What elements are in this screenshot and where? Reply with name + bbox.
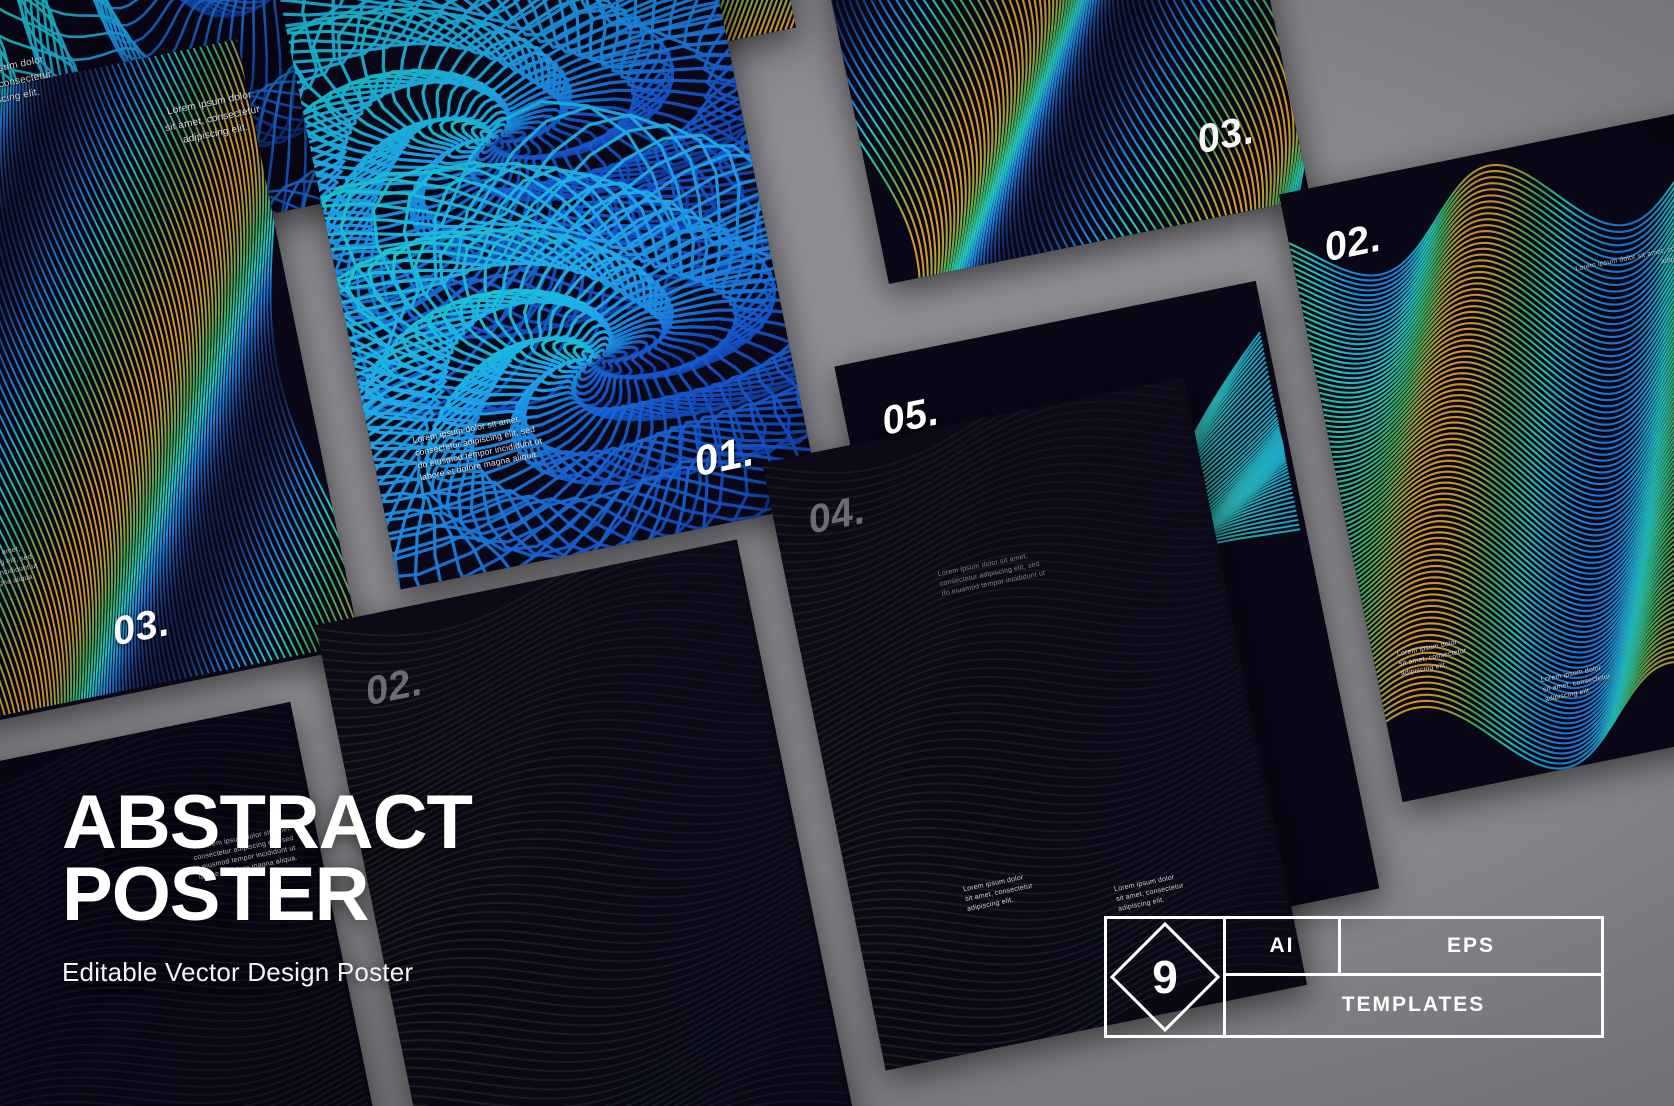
badge-formats-row: AI EPS [1223,916,1604,976]
headline-line-2: POSTER [62,859,472,931]
mockup-scene: Lorem ipsum dolor sit amet, consectetur … [0,0,1674,1106]
poster-artwork [276,0,821,590]
poster-card[interactable]: Lorem ipsum dolor sit amet, consectetur … [276,0,821,590]
badge-templates-label: TEMPLATES [1223,973,1604,1039]
headline-subtitle: Editable Vector Design Poster [62,957,472,988]
badge-right: AI EPS TEMPLATES [1223,916,1604,1038]
badge-format-eps: EPS [1338,916,1604,976]
poster-card[interactable]: Lorem ipsum dolor sit amet, consectetur … [769,0,1310,284]
badge-count: 9 [1107,919,1223,1035]
badge-count-cell: 9 [1104,916,1226,1038]
headline-line-1: ABSTRACT [62,787,472,859]
headline-block: ABSTRACT POSTER Editable Vector Design P… [62,787,472,988]
format-badge: 9 AI EPS TEMPLATES [1104,916,1604,1038]
badge-format-ai: AI [1223,916,1341,976]
